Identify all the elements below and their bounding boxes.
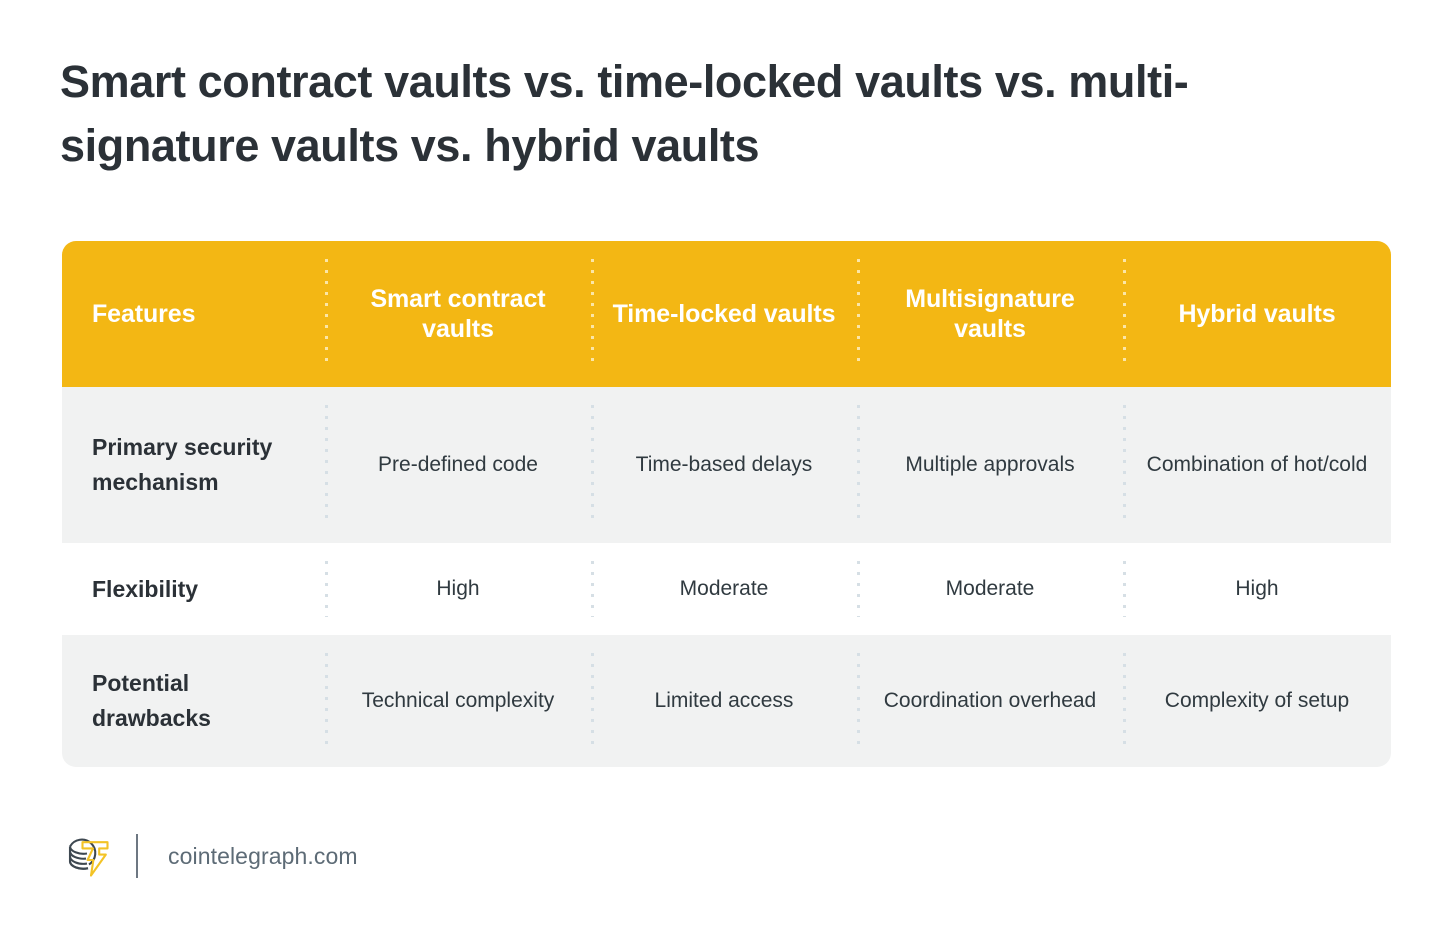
cell-value: Multiple approvals	[905, 450, 1074, 480]
page-title: Smart contract vaults vs. time-locked va…	[60, 50, 1380, 178]
header-label: Multisignature vaults	[871, 284, 1109, 345]
row-feature-cell: Primary security mechanism	[62, 387, 325, 543]
row-value-cell: Moderate	[857, 543, 1123, 635]
row-value-cell: Complexity of setup	[1123, 635, 1391, 767]
cell-value: Complexity of setup	[1165, 686, 1349, 716]
footer-branding: cointelegraph.com	[62, 828, 358, 884]
cell-value: Combination of hot/cold	[1147, 450, 1368, 480]
cell-value: Time-based delays	[636, 450, 813, 480]
cell-value: Technical complexity	[362, 686, 555, 716]
row-value-cell: Time-based delays	[591, 387, 857, 543]
cell-value: Moderate	[680, 574, 769, 604]
header-label: Features	[92, 299, 195, 330]
table-row: Primary security mechanism Pre-defined c…	[62, 387, 1391, 543]
header-cell-multisignature-vaults: Multisignature vaults	[857, 241, 1123, 387]
cell-value: High	[436, 574, 479, 604]
feature-label: Potential drawbacks	[92, 666, 311, 736]
row-value-cell: Combination of hot/cold	[1123, 387, 1391, 543]
row-value-cell: Pre-defined code	[325, 387, 591, 543]
table-header-row: Features Smart contract vaults Time-lock…	[62, 241, 1391, 387]
header-label: Smart contract vaults	[339, 284, 577, 345]
cell-value: Moderate	[946, 574, 1035, 604]
row-value-cell: Moderate	[591, 543, 857, 635]
feature-label: Flexibility	[92, 572, 198, 607]
row-value-cell: High	[325, 543, 591, 635]
cointelegraph-logo-icon	[62, 830, 114, 882]
header-cell-smart-contract-vaults: Smart contract vaults	[325, 241, 591, 387]
header-label: Time-locked vaults	[613, 299, 836, 330]
comparison-table: Features Smart contract vaults Time-lock…	[62, 241, 1391, 767]
header-cell-hybrid-vaults: Hybrid vaults	[1123, 241, 1391, 387]
infographic-page: Smart contract vaults vs. time-locked va…	[0, 0, 1450, 937]
table-row: Flexibility High Moderate Moderate High	[62, 543, 1391, 635]
row-value-cell: High	[1123, 543, 1391, 635]
footer-divider	[136, 834, 138, 878]
feature-label: Primary security mechanism	[92, 430, 311, 500]
table-row: Potential drawbacks Technical complexity…	[62, 635, 1391, 767]
row-value-cell: Coordination overhead	[857, 635, 1123, 767]
header-label: Hybrid vaults	[1178, 299, 1335, 330]
cell-value: Limited access	[655, 686, 794, 716]
row-feature-cell: Potential drawbacks	[62, 635, 325, 767]
cell-value: High	[1235, 574, 1278, 604]
row-value-cell: Limited access	[591, 635, 857, 767]
row-value-cell: Multiple approvals	[857, 387, 1123, 543]
cell-value: Coordination overhead	[884, 686, 1096, 716]
header-cell-time-locked-vaults: Time-locked vaults	[591, 241, 857, 387]
footer-brand-label: cointelegraph.com	[168, 843, 358, 870]
row-feature-cell: Flexibility	[62, 543, 325, 635]
row-value-cell: Technical complexity	[325, 635, 591, 767]
cell-value: Pre-defined code	[378, 450, 538, 480]
header-cell-features: Features	[62, 241, 325, 387]
